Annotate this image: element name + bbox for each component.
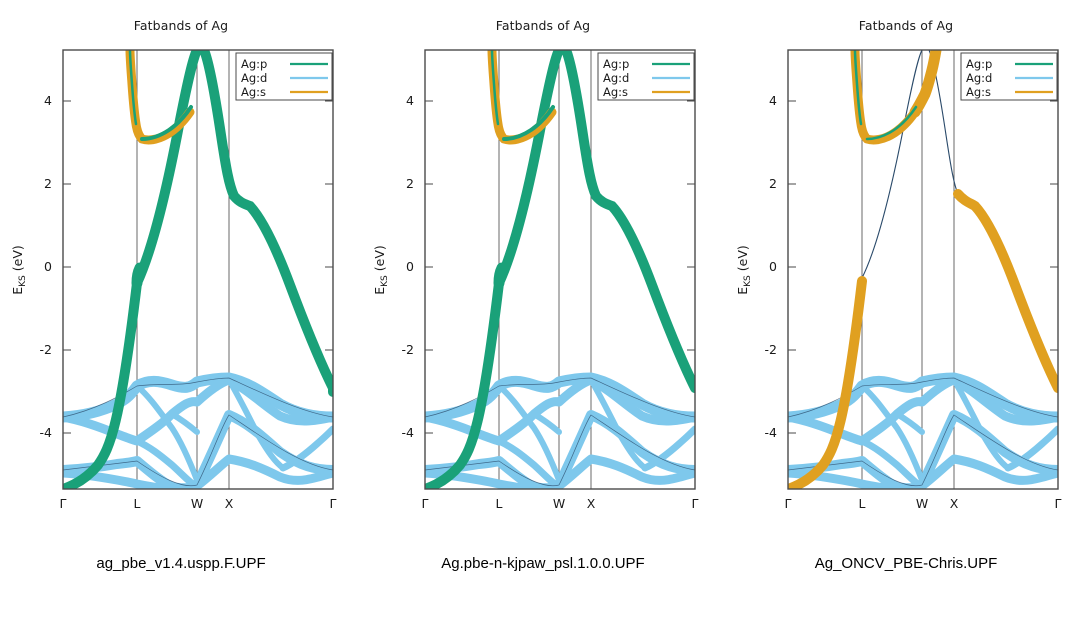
panel-caption: Ag_ONCV_PBE-Chris.UPF — [725, 555, 1087, 572]
panel-caption: Ag.pbe-n-kjpaw_psl.1.0.0.UPF — [362, 555, 724, 572]
legend: Ag:p Ag:d Ag:s — [598, 53, 694, 100]
legend: Ag:p Ag:d Ag:s — [236, 53, 332, 100]
xtick-label: Γ — [422, 496, 429, 511]
y-axis-label: EKS (eV) — [735, 245, 753, 295]
xtick-label: X — [587, 496, 596, 511]
legend-label-d: Ag:d — [241, 71, 267, 85]
x-axis-ticks: Γ L W X Γ — [785, 496, 1062, 511]
xtick-label: W — [553, 496, 565, 511]
x-axis-ticks: Γ L W X Γ — [422, 496, 699, 511]
legend-label-p: Ag:p — [603, 57, 629, 71]
legend-label-s: Ag:s — [966, 85, 991, 99]
y-axis-label: EKS (eV) — [10, 245, 28, 295]
d-band-group — [425, 378, 695, 489]
ytick-label: 4 — [44, 93, 52, 108]
ytick-label: -4 — [40, 425, 53, 440]
ytick-label: 4 — [406, 93, 414, 108]
ytick-label: -4 — [765, 425, 778, 440]
panel-oncv: Fatbands of Ag EKS (eV) 4 2 0 -2 -4 — [725, 0, 1087, 617]
sp-band-thin — [862, 50, 958, 278]
xtick-label: Γ — [785, 496, 792, 511]
xtick-label: L — [859, 496, 866, 511]
bandstructure-plot: EKS (eV) 4 2 0 -2 -4 — [362, 0, 724, 545]
xtick-label: W — [191, 496, 203, 511]
ytick-label: 2 — [44, 176, 52, 191]
xtick-label: W — [916, 496, 928, 511]
panel-uspp: Fatbands of Ag EKS (eV) 4 2 0 -2 -4 — [0, 0, 362, 617]
ytick-label: 0 — [44, 259, 52, 274]
s-band-group — [855, 50, 936, 140]
bandstructure-plot: EKS (eV) 4 2 0 -2 -4 — [725, 0, 1087, 545]
legend-label-p: Ag:p — [241, 57, 267, 71]
legend-label-d: Ag:d — [966, 71, 992, 85]
legend-label-s: Ag:s — [241, 85, 266, 99]
bandstructure-plot: EKS (eV) 4 2 0 -2 -4 — [0, 0, 362, 545]
xtick-label: L — [496, 496, 503, 511]
legend: Ag:p Ag:d Ag:s — [961, 53, 1057, 100]
xtick-label: Γ — [1055, 496, 1062, 511]
sp-band-group — [788, 194, 1058, 489]
legend-label-s: Ag:s — [603, 85, 628, 99]
d-band-group — [788, 378, 1058, 489]
y-axis-label: EKS (eV) — [372, 245, 390, 295]
xtick-label: X — [950, 496, 959, 511]
d-band-group — [63, 378, 333, 489]
ytick-label: 4 — [769, 93, 777, 108]
ytick-label: -2 — [40, 342, 52, 357]
legend-label-p: Ag:p — [966, 57, 992, 71]
legend-label-d: Ag:d — [603, 71, 629, 85]
ytick-label: -2 — [765, 342, 777, 357]
xtick-label: X — [225, 496, 234, 511]
xtick-label: Γ — [330, 496, 337, 511]
ytick-label: -4 — [402, 425, 415, 440]
xtick-label: Γ — [60, 496, 67, 511]
xtick-label: Γ — [692, 496, 699, 511]
x-axis-ticks: Γ L W X Γ — [60, 496, 337, 511]
ytick-label: 2 — [769, 176, 777, 191]
panel-paw: Fatbands of Ag EKS (eV) 4 2 0 -2 -4 — [362, 0, 724, 617]
xtick-label: L — [134, 496, 141, 511]
ytick-label: 0 — [769, 259, 777, 274]
ytick-label: -2 — [402, 342, 414, 357]
panel-caption: ag_pbe_v1.4.uspp.F.UPF — [0, 555, 362, 572]
fatbands-figure: Fatbands of Ag EKS (eV) 4 2 0 -2 -4 — [0, 0, 1087, 617]
ytick-label: 2 — [406, 176, 414, 191]
ytick-label: 0 — [406, 259, 414, 274]
